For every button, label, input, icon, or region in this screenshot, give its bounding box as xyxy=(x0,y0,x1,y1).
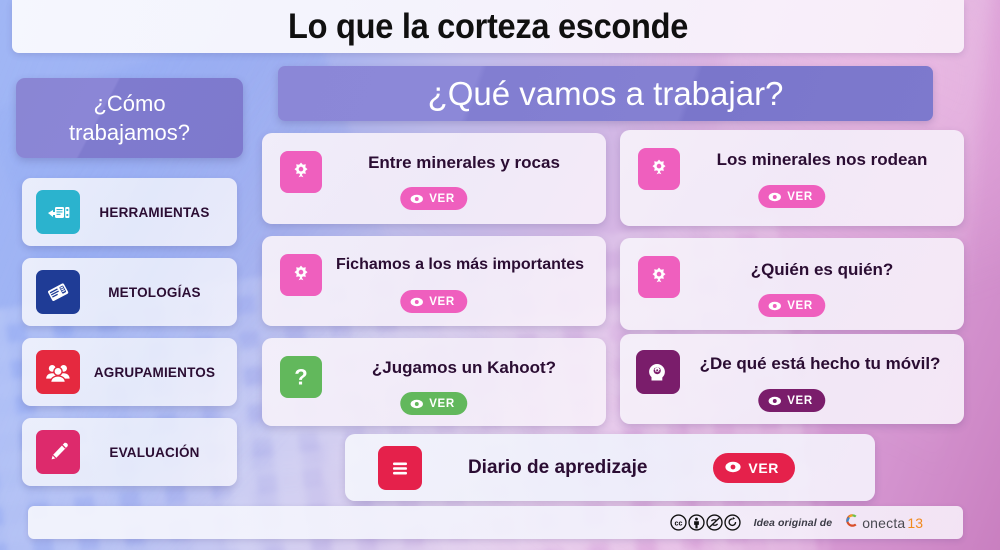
card-title: ¿Quién es quién? xyxy=(690,260,954,280)
sidebar-item-metologias[interactable]: METOLOGÍAS xyxy=(22,258,237,326)
card-de-que-esta-hecho-tu-movil[interactable]: ¿De qué está hecho tu móvil? VER xyxy=(620,334,964,424)
conecta13-logo: onecta 13 xyxy=(845,513,923,533)
notepad-icon xyxy=(36,270,80,314)
sidebar-item-label: EVALUACIÓN xyxy=(80,445,237,460)
eye-icon xyxy=(768,192,781,202)
card-title: Diario de apredizaje xyxy=(402,457,713,479)
sa-icon xyxy=(724,514,741,531)
ver-button[interactable]: VER xyxy=(758,294,825,317)
tools-icon xyxy=(36,190,80,234)
pencil-icon xyxy=(36,430,80,474)
ver-label: VER xyxy=(429,193,454,205)
card-title: ¿De qué está hecho tu móvil? xyxy=(686,354,954,374)
conecta-c-mark xyxy=(845,513,860,533)
conecta-number: 13 xyxy=(907,515,923,531)
svg-text:?: ? xyxy=(294,365,307,390)
by-icon xyxy=(688,514,705,531)
sidebar-heading-line2: trabajamos? xyxy=(69,118,190,147)
card-diario-de-aprendizaje[interactable]: Diario de apredizaje VER xyxy=(345,434,875,501)
ver-label: VER xyxy=(429,398,454,410)
card-title: Los minerales nos rodean xyxy=(690,150,954,170)
sidebar-heading: ¿Cómo trabajamos? xyxy=(16,78,243,158)
people-icon xyxy=(36,350,80,394)
eye-icon xyxy=(725,460,741,476)
ver-button[interactable]: VER xyxy=(400,290,467,313)
main-banner-title: ¿Qué vamos a trabajar? xyxy=(428,75,784,113)
card-title: Entre minerales y rocas xyxy=(332,153,596,173)
ver-button[interactable]: VER xyxy=(758,185,825,208)
credit-text: Idea original de xyxy=(754,517,833,529)
sidebar-heading-line1: ¿Cómo xyxy=(93,89,165,118)
gear-icon xyxy=(638,148,680,190)
ver-button[interactable]: VER xyxy=(400,187,467,210)
header-bar: Lo que la corteza esconde xyxy=(12,0,964,53)
ver-label: VER xyxy=(787,300,812,312)
eye-icon xyxy=(768,396,781,406)
sidebar-item-label: AGRUPAMIENTOS xyxy=(80,365,237,380)
sidebar-item-label: HERRAMIENTAS xyxy=(80,205,237,220)
eye-icon xyxy=(768,301,781,311)
nc-icon xyxy=(706,514,723,531)
card-quien-es-quien[interactable]: ¿Quién es quién? VER xyxy=(620,238,964,330)
creative-commons-badges: cc xyxy=(670,514,741,531)
ver-label: VER xyxy=(787,191,812,203)
sidebar-item-herramientas[interactable]: HERRAMIENTAS xyxy=(22,178,237,246)
gear-icon xyxy=(280,151,322,193)
ver-button[interactable]: VER xyxy=(713,453,795,483)
card-title: Fichamos a los más importantes xyxy=(324,256,596,274)
eye-icon xyxy=(410,194,423,204)
card-los-minerales-nos-rodean[interactable]: Los minerales nos rodean VER xyxy=(620,130,964,226)
cc-icon: cc xyxy=(670,514,687,531)
card-title: ¿Jugamos un Kahoot? xyxy=(332,358,596,378)
main-banner: ¿Qué vamos a trabajar? xyxy=(278,66,933,121)
ver-label: VER xyxy=(429,296,454,308)
ver-button[interactable]: VER xyxy=(758,389,825,412)
ver-button[interactable]: VER xyxy=(400,392,467,415)
card-entre-minerales-y-rocas[interactable]: Entre minerales y rocas VER xyxy=(262,133,606,224)
conecta-wordmark: onecta xyxy=(862,515,905,531)
gear-icon xyxy=(280,254,322,296)
card-fichamos-a-los-mas-importantes[interactable]: Fichamos a los más importantes VER xyxy=(262,236,606,326)
ver-label: VER xyxy=(787,395,812,407)
question-icon: ? xyxy=(280,356,322,398)
card-jugamos-un-kahoot[interactable]: ? ¿Jugamos un Kahoot? VER xyxy=(262,338,606,426)
svg-text:cc: cc xyxy=(674,519,682,527)
ver-label: VER xyxy=(748,460,779,476)
eye-icon xyxy=(410,399,423,409)
sidebar-item-evaluacion[interactable]: EVALUACIÓN xyxy=(22,418,237,486)
footer-bar: cc Idea original de xyxy=(28,506,963,539)
sidebar-item-agrupamientos[interactable]: AGRUPAMIENTOS xyxy=(22,338,237,406)
head-gear-icon xyxy=(636,350,680,394)
gear-icon xyxy=(638,256,680,298)
page-title: Lo que la corteza esconde xyxy=(288,7,688,47)
eye-icon xyxy=(410,297,423,307)
sidebar-item-label: METOLOGÍAS xyxy=(80,285,237,300)
